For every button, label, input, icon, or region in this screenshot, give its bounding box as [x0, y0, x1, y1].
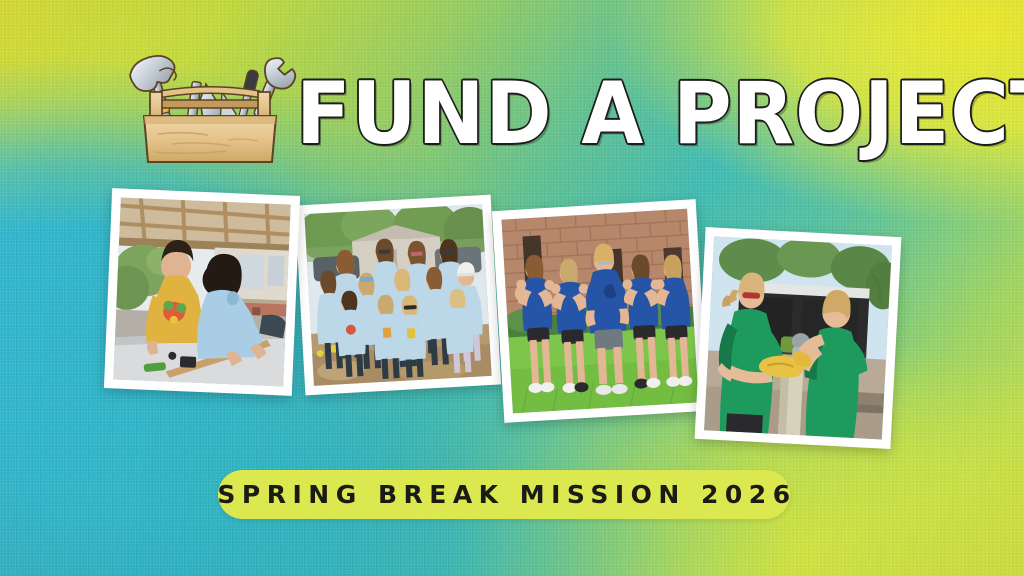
page-title: FUND A PROJECT: [296, 72, 1024, 156]
photo-volunteers-green-shirts-fence-post: [695, 227, 902, 449]
poster-canvas: FUND A PROJECT: [0, 0, 1024, 576]
photo-teens-building-table: [104, 188, 300, 396]
photo-teens-flexing-blue-shirts: [492, 199, 708, 423]
status-badge: SPRING BREAK MISSION 2026: [218, 470, 790, 519]
toolbox-icon: [110, 48, 302, 173]
banner-label: SPRING BREAK MISSION 2026: [217, 480, 796, 509]
photo-group-light-blue-shirts: [295, 195, 501, 396]
